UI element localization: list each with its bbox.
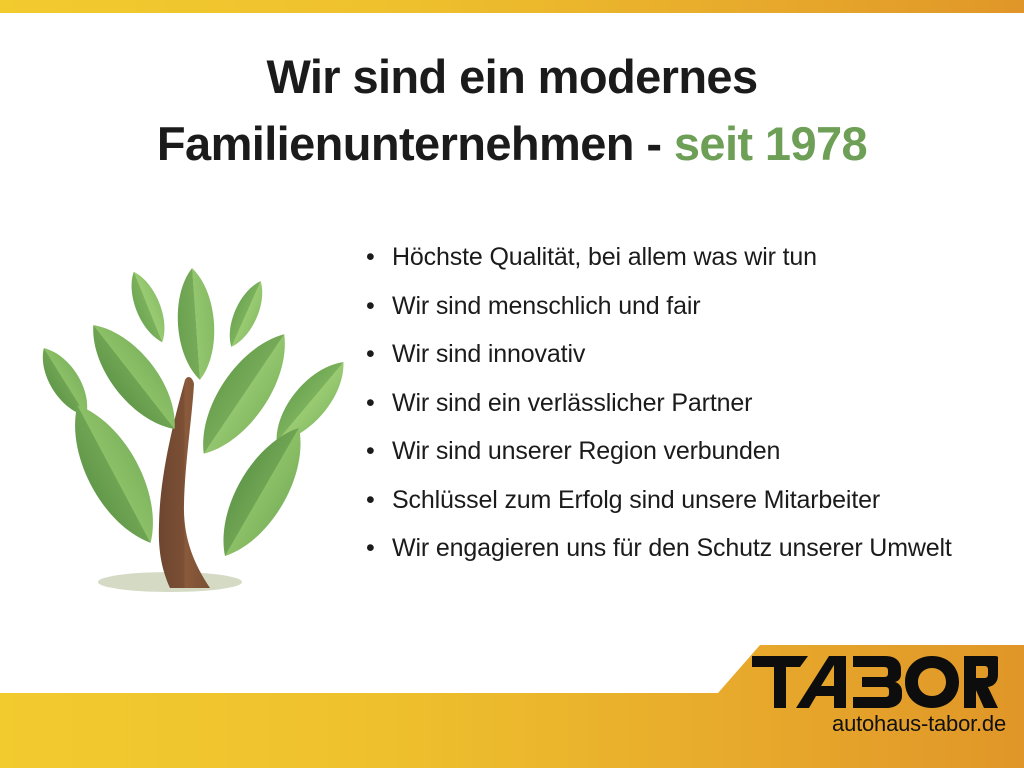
list-item: • Wir sind unserer Region verbunden <box>366 438 1016 464</box>
bullet-list: • Höchste Qualität, bei allem was wir tu… <box>366 244 1016 561</box>
list-item: • Wir sind innovativ <box>366 341 1016 367</box>
leaf-top-right-small <box>221 277 271 352</box>
bullet-marker-icon: • <box>366 244 392 270</box>
list-item-label: Wir sind unserer Region verbunden <box>392 438 1016 464</box>
bullet-marker-icon: • <box>366 390 392 416</box>
list-item-label: Höchste Qualität, bei allem was wir tun <box>392 244 1016 270</box>
list-item: • Wir sind ein verlässlicher Partner <box>366 390 1016 416</box>
leaf-top-center <box>174 267 218 381</box>
heading-accent-year: seit 1978 <box>674 117 867 170</box>
page-title: Wir sind ein modernes Familienunternehme… <box>0 44 1024 177</box>
bullet-marker-icon: • <box>366 487 392 513</box>
bullet-marker-icon: • <box>366 293 392 319</box>
list-item-label: Wir sind ein verlässlicher Partner <box>392 390 1016 416</box>
heading-line-1: Wir sind ein modernes <box>0 44 1024 111</box>
bullet-marker-icon: • <box>366 341 392 367</box>
heading-line-2-black: Familienunternehmen - <box>157 117 674 170</box>
list-item-label: Wir engagieren uns für den Schutz unsere… <box>392 535 1016 561</box>
list-item: • Wir sind menschlich und fair <box>366 293 1016 319</box>
list-item: • Höchste Qualität, bei allem was wir tu… <box>366 244 1016 270</box>
heading-line-2: Familienunternehmen - seit 1978 <box>0 111 1024 178</box>
list-item-label: Schlüssel zum Erfolg sind unsere Mitarbe… <box>392 487 1016 513</box>
tree-illustration <box>22 252 352 608</box>
leaf-top-left-small <box>123 267 174 346</box>
bullet-marker-icon: • <box>366 438 392 464</box>
slide-canvas: Wir sind ein modernes Familienunternehme… <box>0 0 1024 768</box>
bullet-marker-icon: • <box>366 535 392 561</box>
list-item-label: Wir sind menschlich und fair <box>392 293 1016 319</box>
list-item: • Wir engagieren uns für den Schutz unse… <box>366 535 1016 561</box>
logo-tagline[interactable]: autohaus-tabor.de <box>752 711 1008 737</box>
list-item-label: Wir sind innovativ <box>392 341 1016 367</box>
logo[interactable]: autohaus-tabor.de <box>752 656 1008 737</box>
list-item: • Schlüssel zum Erfolg sind unsere Mitar… <box>366 487 1016 513</box>
tabor-wordmark <box>752 656 1008 708</box>
top-gradient-bar <box>0 0 1024 13</box>
